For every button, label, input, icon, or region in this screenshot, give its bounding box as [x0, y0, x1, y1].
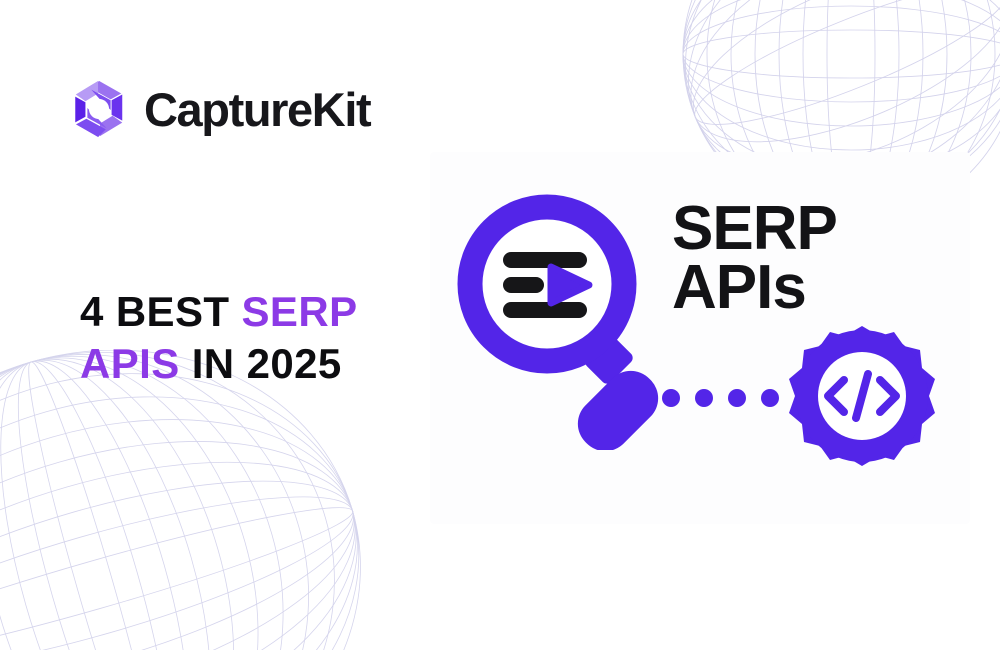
artwork-title: SERP APIs: [672, 200, 942, 318]
magnifying-glass-icon: [455, 190, 685, 450]
page-title: 4 BEST SERP APIS IN 2025: [80, 286, 410, 390]
artwork-title-line-2: APIs: [672, 259, 942, 318]
decor-wireframe-bottom-left: [0, 350, 405, 650]
cover-canvas: CaptureKit 4 BEST SERP APIS IN 2025 SERP…: [0, 0, 1000, 650]
brand-lockup: CaptureKit: [68, 78, 370, 140]
headline-part-1: 4 BEST: [80, 288, 242, 335]
headline-part-2: IN 2025: [180, 340, 342, 387]
hexagon-aperture-icon: [68, 78, 130, 140]
dotted-connector-icon: [660, 380, 780, 416]
brand-wordmark: CaptureKit: [144, 86, 370, 133]
decor-arc-bottom-center: [600, 602, 800, 650]
gear-code-icon: [782, 322, 942, 482]
